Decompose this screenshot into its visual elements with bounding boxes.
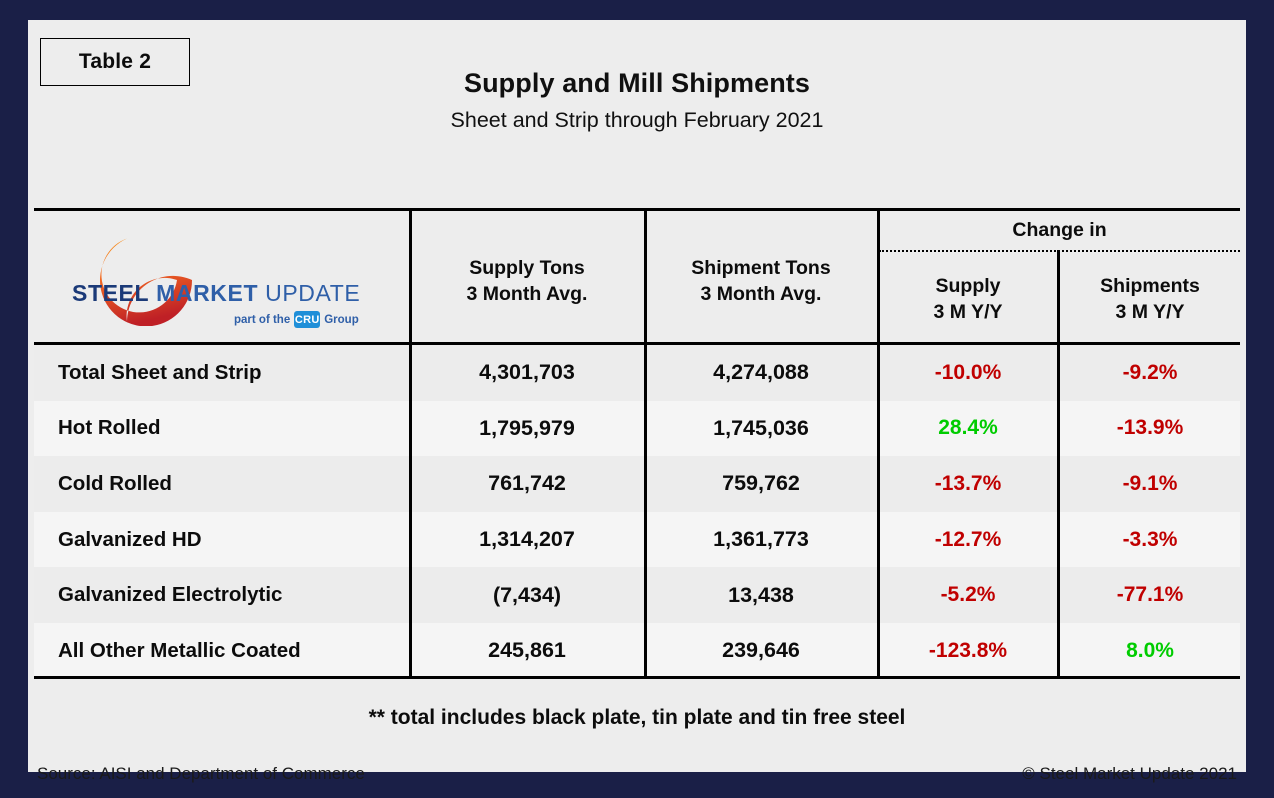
logo-wordmark: STEEL MARKET UPDATE [72,280,392,307]
cell-change-supply: -13.7% [880,456,1056,512]
column-header-supply-tons-line2: 3 Month Avg. [412,282,642,308]
cell-shipment-tons: 4,274,088 [647,345,875,401]
row-label: Cold Rolled [58,456,172,512]
logo-word-update: UPDATE [265,280,360,306]
row-label: Galvanized HD [58,512,202,568]
cell-change-shipments: -77.1% [1060,567,1240,623]
cell-change-shipments: -9.2% [1060,345,1240,401]
column-divider-2 [644,208,647,679]
column-header-change-supply: Supply 3 M Y/Y [880,274,1056,325]
slide-frame: Table 2 Supply and Mill Shipments Sheet … [0,0,1274,798]
cell-change-supply: -12.7% [880,512,1056,568]
cru-badge-icon: CRU [294,311,320,328]
slide-card: Table 2 Supply and Mill Shipments Sheet … [28,20,1246,772]
cell-supply-tons: 1,795,979 [412,401,642,457]
column-header-supply-tons: Supply Tons 3 Month Avg. [412,256,642,307]
cell-change-shipments: -13.9% [1060,401,1240,457]
row-label: Hot Rolled [58,401,161,457]
cell-supply-tons: 245,861 [412,623,642,679]
cell-change-supply: -5.2% [880,567,1056,623]
cell-shipment-tons: 239,646 [647,623,875,679]
cell-shipment-tons: 759,762 [647,456,875,512]
change-in-divider [879,250,1240,252]
column-header-change-supply-line1: Supply [880,274,1056,300]
steel-market-update-logo: STEEL MARKET UPDATE part of the CRU Grou… [72,234,392,334]
logo-word-steel: STEEL [72,280,149,306]
column-header-change-shipments-line2: 3 M Y/Y [1060,300,1240,326]
column-header-change-shipments-line1: Shipments [1060,274,1240,300]
row-label: All Other Metallic Coated [58,623,301,679]
column-header-shipment-tons-line1: Shipment Tons [647,256,875,282]
cell-shipment-tons: 1,745,036 [647,401,875,457]
cell-supply-tons: (7,434) [412,567,642,623]
column-group-header-change-in: Change in [879,218,1240,244]
cell-supply-tons: 761,742 [412,456,642,512]
table-top-border [34,208,1240,211]
logo-tagline: part of the CRU Group [234,311,359,328]
title-block: Supply and Mill Shipments Sheet and Stri… [28,68,1246,133]
column-divider-1 [409,208,412,679]
cell-shipment-tons: 1,361,773 [647,512,875,568]
column-divider-4 [1057,250,1060,679]
page-subtitle: Sheet and Strip through February 2021 [28,108,1246,133]
column-header-change-shipments: Shipments 3 M Y/Y [1060,274,1240,325]
row-label: Total Sheet and Strip [58,345,262,401]
page-title: Supply and Mill Shipments [28,68,1246,99]
column-header-shipment-tons-line2: 3 Month Avg. [647,282,875,308]
source-note: Source: AISI and Department of Commerce [37,764,365,784]
logo-tagline-pre: part of the [234,314,290,326]
cell-change-shipments: -3.3% [1060,512,1240,568]
column-header-supply-tons-line1: Supply Tons [412,256,642,282]
logo-tagline-post: Group [324,314,359,326]
cell-supply-tons: 4,301,703 [412,345,642,401]
cell-supply-tons: 1,314,207 [412,512,642,568]
logo-word-market: MARKET [156,280,258,306]
column-header-change-supply-line2: 3 M Y/Y [880,300,1056,326]
cell-change-shipments: -9.1% [1060,456,1240,512]
cell-change-supply: -123.8% [880,623,1056,679]
cell-change-supply: 28.4% [880,401,1056,457]
cell-shipment-tons: 13,438 [647,567,875,623]
column-header-shipment-tons: Shipment Tons 3 Month Avg. [647,256,875,307]
row-label: Galvanized Electrolytic [58,567,282,623]
table-footnote: ** total includes black plate, tin plate… [28,706,1246,730]
column-divider-3 [877,208,880,679]
copyright-note: © Steel Market Update 2021 [1022,764,1237,784]
cell-change-supply: -10.0% [880,345,1056,401]
cell-change-shipments: 8.0% [1060,623,1240,679]
